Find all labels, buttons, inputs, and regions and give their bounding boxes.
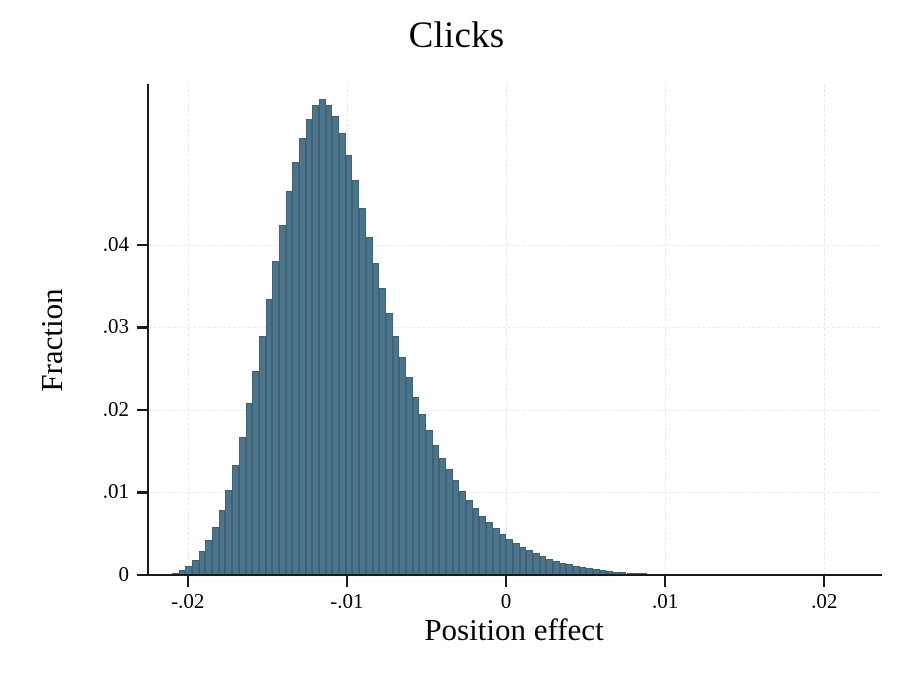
gridline-vertical-4 — [824, 84, 825, 575]
histogram-bar — [252, 371, 259, 575]
x-tick-label-1: -.01 — [302, 589, 392, 614]
plot-area — [148, 84, 880, 575]
page-title: Clicks — [0, 14, 913, 57]
y-tick-label-0: 0 — [119, 562, 130, 587]
histogram-bar — [259, 336, 266, 575]
histogram-bar — [312, 105, 319, 575]
x-tick-label-4: .02 — [779, 589, 869, 614]
histogram-bar — [479, 516, 486, 575]
x-tick-mark-2 — [505, 576, 507, 587]
y-tick-mark-4 — [137, 244, 148, 246]
histogram-bar — [199, 551, 206, 575]
histogram-bar — [506, 539, 513, 575]
histogram-bar — [205, 540, 212, 575]
histogram-bar — [486, 522, 493, 575]
histogram-bar — [520, 547, 527, 575]
histogram-bar — [286, 191, 293, 575]
gridline-vertical-3 — [665, 84, 666, 575]
histogram-bar — [339, 133, 346, 575]
histogram-bar — [279, 225, 286, 575]
histogram-bar — [332, 116, 339, 575]
histogram-bar — [219, 510, 226, 575]
histogram-bar — [553, 561, 560, 575]
histogram-bar — [500, 534, 507, 575]
histogram-bar — [399, 357, 406, 575]
y-tick-label-3: .03 — [103, 314, 129, 339]
x-tick-mark-3 — [664, 576, 666, 587]
histogram-bar — [413, 397, 420, 575]
histogram-bar — [426, 430, 433, 575]
histogram-bar — [306, 119, 313, 575]
histogram-bar — [266, 299, 273, 575]
histogram-bar — [346, 155, 353, 575]
x-axis-label: Position effect — [148, 612, 880, 648]
histogram-bar — [299, 138, 306, 575]
histogram-bar — [473, 508, 480, 575]
histogram-bar — [239, 437, 246, 575]
histogram-bar — [526, 550, 533, 575]
y-axis-line — [147, 84, 149, 576]
histogram-bar — [319, 99, 326, 575]
histogram-bar — [225, 490, 232, 575]
histogram-bar — [212, 527, 219, 575]
x-tick-label-2: 0 — [461, 589, 551, 614]
y-tick-label-4: .04 — [103, 232, 129, 257]
histogram-bar — [466, 500, 473, 575]
x-tick-label-3: .01 — [620, 589, 710, 614]
histogram-bar — [439, 458, 446, 575]
gridline-horizontal-4 — [148, 245, 880, 246]
histogram-bar — [232, 465, 239, 575]
x-tick-label-0: -.02 — [143, 589, 233, 614]
histogram-bar — [366, 237, 373, 575]
histogram-bar — [359, 208, 366, 575]
histogram-bar — [433, 445, 440, 575]
histogram-bar — [352, 180, 359, 575]
histogram-bar — [493, 528, 500, 575]
y-tick-mark-0 — [137, 574, 148, 576]
x-tick-mark-1 — [346, 576, 348, 587]
histogram-bar — [453, 480, 460, 575]
histogram-bar — [393, 336, 400, 575]
histogram-bar — [446, 469, 453, 575]
histogram-bar — [246, 403, 253, 575]
histogram-bar — [326, 105, 333, 575]
y-tick-mark-1 — [137, 491, 148, 493]
histogram-bar — [373, 263, 380, 575]
histogram-bar — [459, 491, 466, 575]
histogram-figure: Clicks Fraction 0.01.02.03.04 -.02-.010.… — [0, 0, 913, 689]
y-tick-mark-2 — [137, 409, 148, 411]
histogram-bar — [192, 560, 199, 575]
histogram-bar — [533, 553, 540, 575]
histogram-bar — [292, 162, 299, 575]
gridline-horizontal-3 — [148, 327, 880, 328]
gridline-vertical-0 — [188, 84, 189, 575]
y-tick-mark-3 — [137, 326, 148, 328]
histogram-bar — [386, 313, 393, 575]
histogram-bar — [419, 414, 426, 575]
histogram-bar — [540, 556, 547, 575]
x-axis-line — [146, 574, 882, 576]
histogram-bar — [379, 288, 386, 575]
x-tick-mark-0 — [187, 576, 189, 587]
y-tick-label-2: .02 — [103, 397, 129, 422]
y-tick-label-1: .01 — [103, 479, 129, 504]
histogram-bar — [406, 377, 413, 575]
gridline-vertical-2 — [506, 84, 507, 575]
y-axis-label: Fraction — [34, 230, 70, 450]
histogram-bar — [513, 543, 520, 575]
histogram-bar — [546, 559, 553, 576]
histogram-bar — [272, 261, 279, 575]
x-tick-mark-4 — [823, 576, 825, 587]
